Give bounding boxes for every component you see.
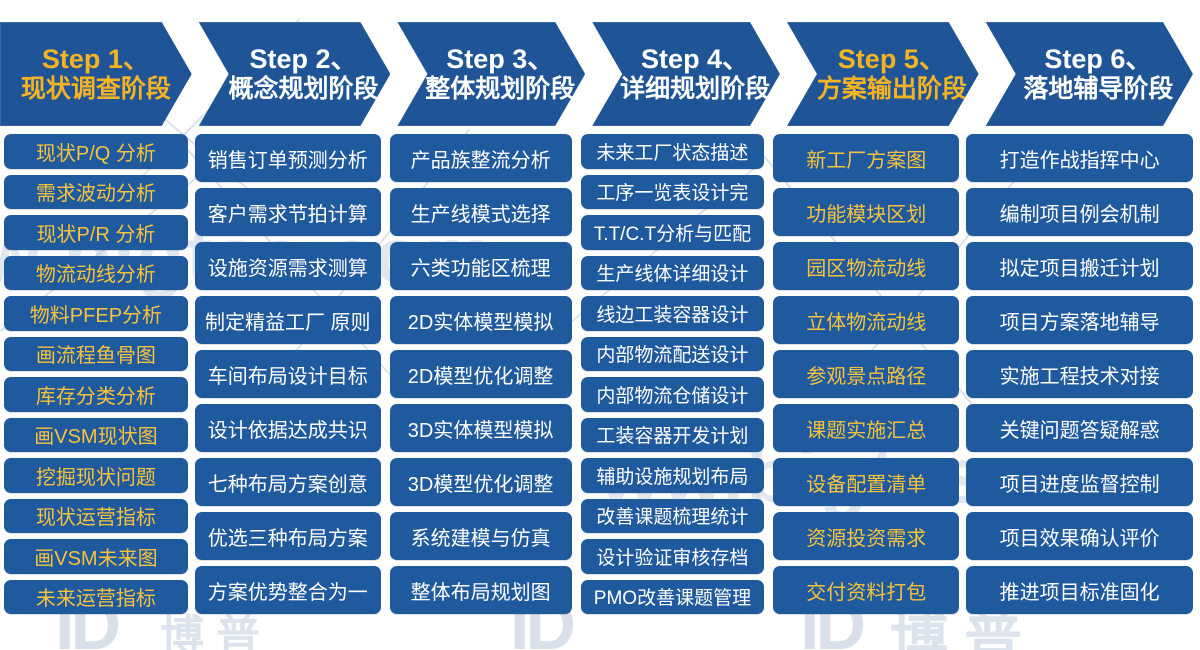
step-arrow-2[interactable]: Step 2、概念规划阶段 [199,22,391,126]
step-arrow-3[interactable]: Step 3、整体规划阶段 [397,22,585,126]
task-pill[interactable]: 辅助设施规划布局 [581,458,765,493]
step-arrow-5[interactable]: Step 5、方案输出阶段 [787,22,979,126]
step-arrow-content: Step 2、概念规划阶段 [229,45,379,103]
task-pill[interactable]: 优选三种布局方案 [195,512,381,560]
task-pill[interactable]: 设计验证审核存档 [581,539,765,574]
task-pill[interactable]: 物流动线分析 [4,256,188,291]
step-columns: 现状P/Q 分析需求波动分析现状P/R 分析物流动线分析物料PFEP分析画流程鱼… [0,134,1200,614]
task-pill[interactable]: 线边工装容器设计 [581,296,765,331]
task-pill[interactable]: 实施工程技术对接 [966,350,1193,398]
step-number-label: Step 1、 [21,45,171,74]
task-pill[interactable]: 未来运营指标 [4,580,188,615]
step-arrow-content: Step 3、整体规划阶段 [425,45,575,103]
task-pill[interactable]: 销售订单预测分析 [195,134,381,182]
task-pill[interactable]: 挖掘现状问题 [4,458,188,493]
step-number-label: Step 2、 [229,45,379,74]
step-header-row: Step 1、现状调查阶段Step 2、概念规划阶段Step 3、整体规划阶段S… [0,22,1200,126]
step-number-label: Step 4、 [620,45,770,74]
task-pill[interactable]: 立体物流动线 [773,296,959,344]
task-pill[interactable]: 推进项目标准固化 [966,566,1193,614]
task-pill[interactable]: 生产线体详细设计 [581,256,765,291]
task-pill[interactable]: 未来工厂状态描述 [581,134,765,169]
task-pill[interactable]: 七种布局方案创意 [195,458,381,506]
step-arrow-content: Step 6、落地辅导阶段 [1023,45,1173,103]
task-pill[interactable]: 2D实体模型模拟 [390,296,572,344]
task-pill[interactable]: 参观景点路径 [773,350,959,398]
task-pill[interactable]: 新工厂方案图 [773,134,959,182]
step-column-2: 销售订单预测分析客户需求节拍计算设施资源需求测算制定精益工厂 原则车间布局设计目… [195,134,381,614]
task-pill[interactable]: 画流程鱼骨图 [4,337,188,372]
task-pill[interactable]: PMO改善课题管理 [581,580,765,615]
step-column-1: 现状P/Q 分析需求波动分析现状P/R 分析物流动线分析物料PFEP分析画流程鱼… [4,134,188,614]
step-number-label: Step 3、 [425,45,575,74]
step-number-label: Step 5、 [817,45,967,74]
task-pill[interactable]: 项目进度监督控制 [966,458,1193,506]
task-pill[interactable]: 设计依据达成共识 [195,404,381,452]
task-pill[interactable]: 内部物流仓储设计 [581,377,765,412]
task-pill[interactable]: 项目效果确认评价 [966,512,1193,560]
step-stage-label: 现状调查阶段 [21,75,171,103]
task-pill[interactable]: 客户需求节拍计算 [195,188,381,236]
task-pill[interactable]: 库存分类分析 [4,377,188,412]
task-pill[interactable]: 设备配置清单 [773,458,959,506]
task-pill[interactable]: 交付资料打包 [773,566,959,614]
task-pill[interactable]: 画VSM现状图 [4,418,188,453]
task-pill[interactable]: 车间布局设计目标 [195,350,381,398]
task-pill[interactable]: T.T/C.T分析与匹配 [581,215,765,250]
step-arrow-content: Step 5、方案输出阶段 [817,45,967,103]
task-pill[interactable]: 物料PFEP分析 [4,296,188,331]
step-arrow-4[interactable]: Step 4、详细规划阶段 [592,22,780,126]
task-pill[interactable]: 需求波动分析 [4,175,188,210]
task-pill[interactable]: 现状运营指标 [4,499,188,534]
task-pill[interactable]: 六类功能区梳理 [390,242,572,290]
task-pill[interactable]: 项目方案落地辅导 [966,296,1193,344]
step-stage-label: 详细规划阶段 [620,75,770,103]
task-pill[interactable]: 方案优势整合为一 [195,566,381,614]
task-pill[interactable]: 改善课题梳理统计 [581,499,765,534]
task-pill[interactable]: 整体布局规划图 [390,566,572,614]
task-pill[interactable]: 关键问题答疑解惑 [966,404,1193,452]
task-pill[interactable]: 拟定项目搬迁计划 [966,242,1193,290]
step-stage-label: 方案输出阶段 [817,75,967,103]
task-pill[interactable]: 现状P/Q 分析 [4,134,188,169]
step-number-label: Step 6、 [1023,45,1173,74]
step-arrow-content: Step 1、现状调查阶段 [21,45,171,103]
step-stage-label: 概念规划阶段 [229,75,379,103]
task-pill[interactable]: 制定精益工厂 原则 [195,296,381,344]
task-pill[interactable]: 功能模块区划 [773,188,959,236]
task-pill[interactable]: 3D实体模型模拟 [390,404,572,452]
task-pill[interactable]: 生产线模式选择 [390,188,572,236]
step-stage-label: 整体规划阶段 [425,75,575,103]
task-pill[interactable]: 2D模型优化调整 [390,350,572,398]
task-pill[interactable]: 工序一览表设计完 [581,175,765,210]
process-roadmap-board: w.bigtss.com ww.bigtss.com ID ID ID 博 普 … [0,0,1200,650]
task-pill[interactable]: 工装容器开发计划 [581,418,765,453]
task-pill[interactable]: 资源投资需求 [773,512,959,560]
step-column-5: 新工厂方案图功能模块区划园区物流动线立体物流动线参观景点路径课题实施汇总设备配置… [773,134,959,614]
task-pill[interactable]: 设施资源需求测算 [195,242,381,290]
task-pill[interactable]: 现状P/R 分析 [4,215,188,250]
step-column-6: 打造作战指挥中心编制项目例会机制拟定项目搬迁计划项目方案落地辅导实施工程技术对接… [966,134,1193,614]
step-column-4: 未来工厂状态描述工序一览表设计完T.T/C.T分析与匹配生产线体详细设计线边工装… [581,134,765,614]
task-pill[interactable]: 画VSM未来图 [4,539,188,574]
step-arrow-1[interactable]: Step 1、现状调查阶段 [0,22,192,126]
step-arrow-content: Step 4、详细规划阶段 [620,45,770,103]
task-pill[interactable]: 打造作战指挥中心 [966,134,1193,182]
task-pill[interactable]: 3D模型优化调整 [390,458,572,506]
step-arrow-6[interactable]: Step 6、落地辅导阶段 [986,22,1193,126]
task-pill[interactable]: 园区物流动线 [773,242,959,290]
task-pill[interactable]: 编制项目例会机制 [966,188,1193,236]
step-stage-label: 落地辅导阶段 [1023,75,1173,103]
step-column-3: 产品族整流分析生产线模式选择六类功能区梳理2D实体模型模拟2D模型优化调整3D实… [390,134,572,614]
task-pill[interactable]: 系统建模与仿真 [390,512,572,560]
task-pill[interactable]: 课题实施汇总 [773,404,959,452]
task-pill[interactable]: 产品族整流分析 [390,134,572,182]
task-pill[interactable]: 内部物流配送设计 [581,337,765,372]
